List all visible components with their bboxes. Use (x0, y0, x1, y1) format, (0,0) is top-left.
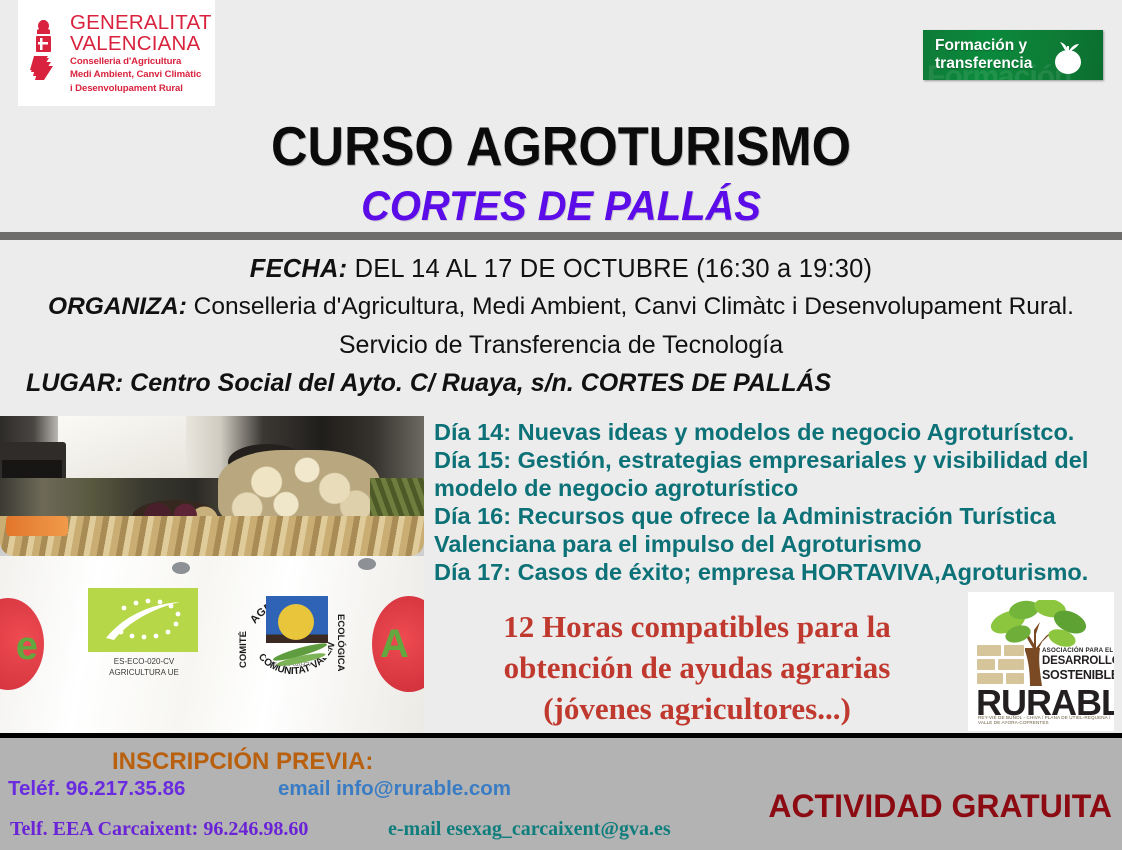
footer-band: INSCRIPCIÓN PREVIA: Teléf. 96.217.35.86 … (0, 738, 1122, 850)
servicio-value: Servicio de Transferencia de Tecnología (339, 331, 783, 359)
gva-sub2: Medi Ambient, Canvi Climàtic (70, 69, 212, 81)
program-line-5: Valenciana para el impulso del Agroturis… (434, 530, 1122, 558)
rurable-territory-text: REY-VIÉ DE BUÑOL - CHIVA / PLANA DE UTIE… (978, 715, 1114, 725)
photo-carrots (6, 516, 68, 536)
program-line-4: Día 16: Recursos que ofrece la Administr… (434, 502, 1122, 530)
hours-line-2: obtención de ayudas agrarias (432, 647, 962, 688)
gva-line1: GENERALITAT (70, 12, 212, 33)
cae-sun-icon (278, 604, 314, 640)
organiza-label: ORGANIZA: (48, 293, 187, 320)
formacion-line1: Formación y (935, 37, 1032, 55)
photo-clip-left (172, 562, 190, 574)
info-row-lugar: LUGAR: Centro Social del Ayto. C/ Ruaya,… (0, 364, 1122, 402)
fecha-value: DEL 14 AL 17 DE OCTUBRE (16:30 a 19:30) (347, 255, 872, 283)
generalitat-valenciana-logo: GENERALITAT VALENCIANA Conselleria d'Agr… (18, 0, 215, 106)
email-primary[interactable]: email info@rurable.com (278, 777, 511, 801)
program-line-2: Día 15: Gestión, estrategias empresarial… (434, 446, 1122, 474)
eu-code: ES-ECO-020-CV (88, 656, 200, 667)
phone-secondary: Telf. EEA Carcaixent: 96.246.98.60 (10, 818, 308, 841)
rurable-logo: ASOCIACIÓN PARA EL DESARROLLO SOSTENIBLE… (968, 592, 1114, 731)
orange-fruit-icon (1047, 36, 1089, 76)
gva-shield-icon (28, 18, 62, 88)
page-title: CURSO AGROTURISMO (45, 114, 1077, 178)
info-row-servicio: Servicio de Transferencia de Tecnología (0, 326, 1122, 364)
svg-text:COMITÉ: COMITÉ (238, 631, 249, 668)
program-list: Día 14: Nuevas ideas y modelos de negoci… (434, 418, 1122, 586)
rurable-desarrollo-text: DESARROLLO (1042, 655, 1114, 667)
poster-root: GENERALITAT VALENCIANA Conselleria d'Agr… (0, 0, 1122, 850)
program-line-1: Día 14: Nuevas ideas y modelos de negoci… (434, 418, 1122, 446)
hours-line-3: (jóvenes agricultores...) (432, 688, 962, 729)
hours-highlight: 12 Horas compatibles para la obtención d… (432, 606, 962, 729)
email-secondary[interactable]: e-mail esexag_carcaixent@gva.es (388, 818, 671, 841)
program-line-3: modelo de negocio agroturístico (434, 474, 1122, 502)
rurable-asociacion-text: ASOCIACIÓN PARA EL (1042, 647, 1113, 654)
photo-banner (0, 556, 424, 734)
fecha-label: FECHA: (250, 255, 348, 283)
info-row-fecha: FECHA: DEL 14 AL 17 DE OCTUBRE (16:30 a … (0, 250, 1122, 288)
photo-clip-right (358, 558, 376, 570)
inscripcion-heading: INSCRIPCIÓN PREVIA: (112, 748, 373, 776)
eu-label: AGRICULTURA UE (88, 667, 200, 678)
organiza-value: Conselleria d'Agricultura, Medi Ambient,… (187, 293, 1074, 320)
formacion-line2: transferencia (935, 55, 1032, 73)
formacion-transferencia-logo: Formación Formación y transferencia (923, 30, 1103, 80)
info-row-organiza: ORGANIZA: Conselleria d'Agricultura, Med… (0, 288, 1122, 326)
phone-primary: Teléf. 96.217.35.86 (8, 777, 185, 801)
free-activity-badge: ACTIVIDAD GRATUITA (768, 788, 1112, 825)
market-photo: ES-ECO-020-CV AGRICULTURA UE AGRICULTURA… (0, 416, 424, 734)
svg-text:ECOLÓGICA: ECOLÓGICA (335, 614, 347, 672)
gva-line2: VALENCIANA (70, 33, 212, 54)
comite-agricultura-ecologica-logo: AGRICULTURA COMUNITAT VALENCIANA COMITÉ … (238, 568, 348, 708)
header-divider (0, 232, 1122, 240)
eu-organic-leaf-icon (88, 588, 198, 652)
eu-organic-caption: ES-ECO-020-CV AGRICULTURA UE (88, 656, 200, 678)
info-block: FECHA: DEL 14 AL 17 DE OCTUBRE (16:30 a … (0, 250, 1122, 402)
gva-sub3: i Desenvolupament Rural (70, 83, 212, 95)
page-subtitle: CORTES DE PALLÁS (28, 182, 1094, 230)
gva-sub1: Conselleria d'Agricultura (70, 56, 212, 68)
hours-line-1: 12 Horas compatibles para la (432, 606, 962, 647)
program-line-6: Día 17: Casos de éxito; empresa HORTAVIV… (434, 558, 1122, 586)
rurable-sostenible-text: SOSTENIBLE (1042, 668, 1114, 682)
